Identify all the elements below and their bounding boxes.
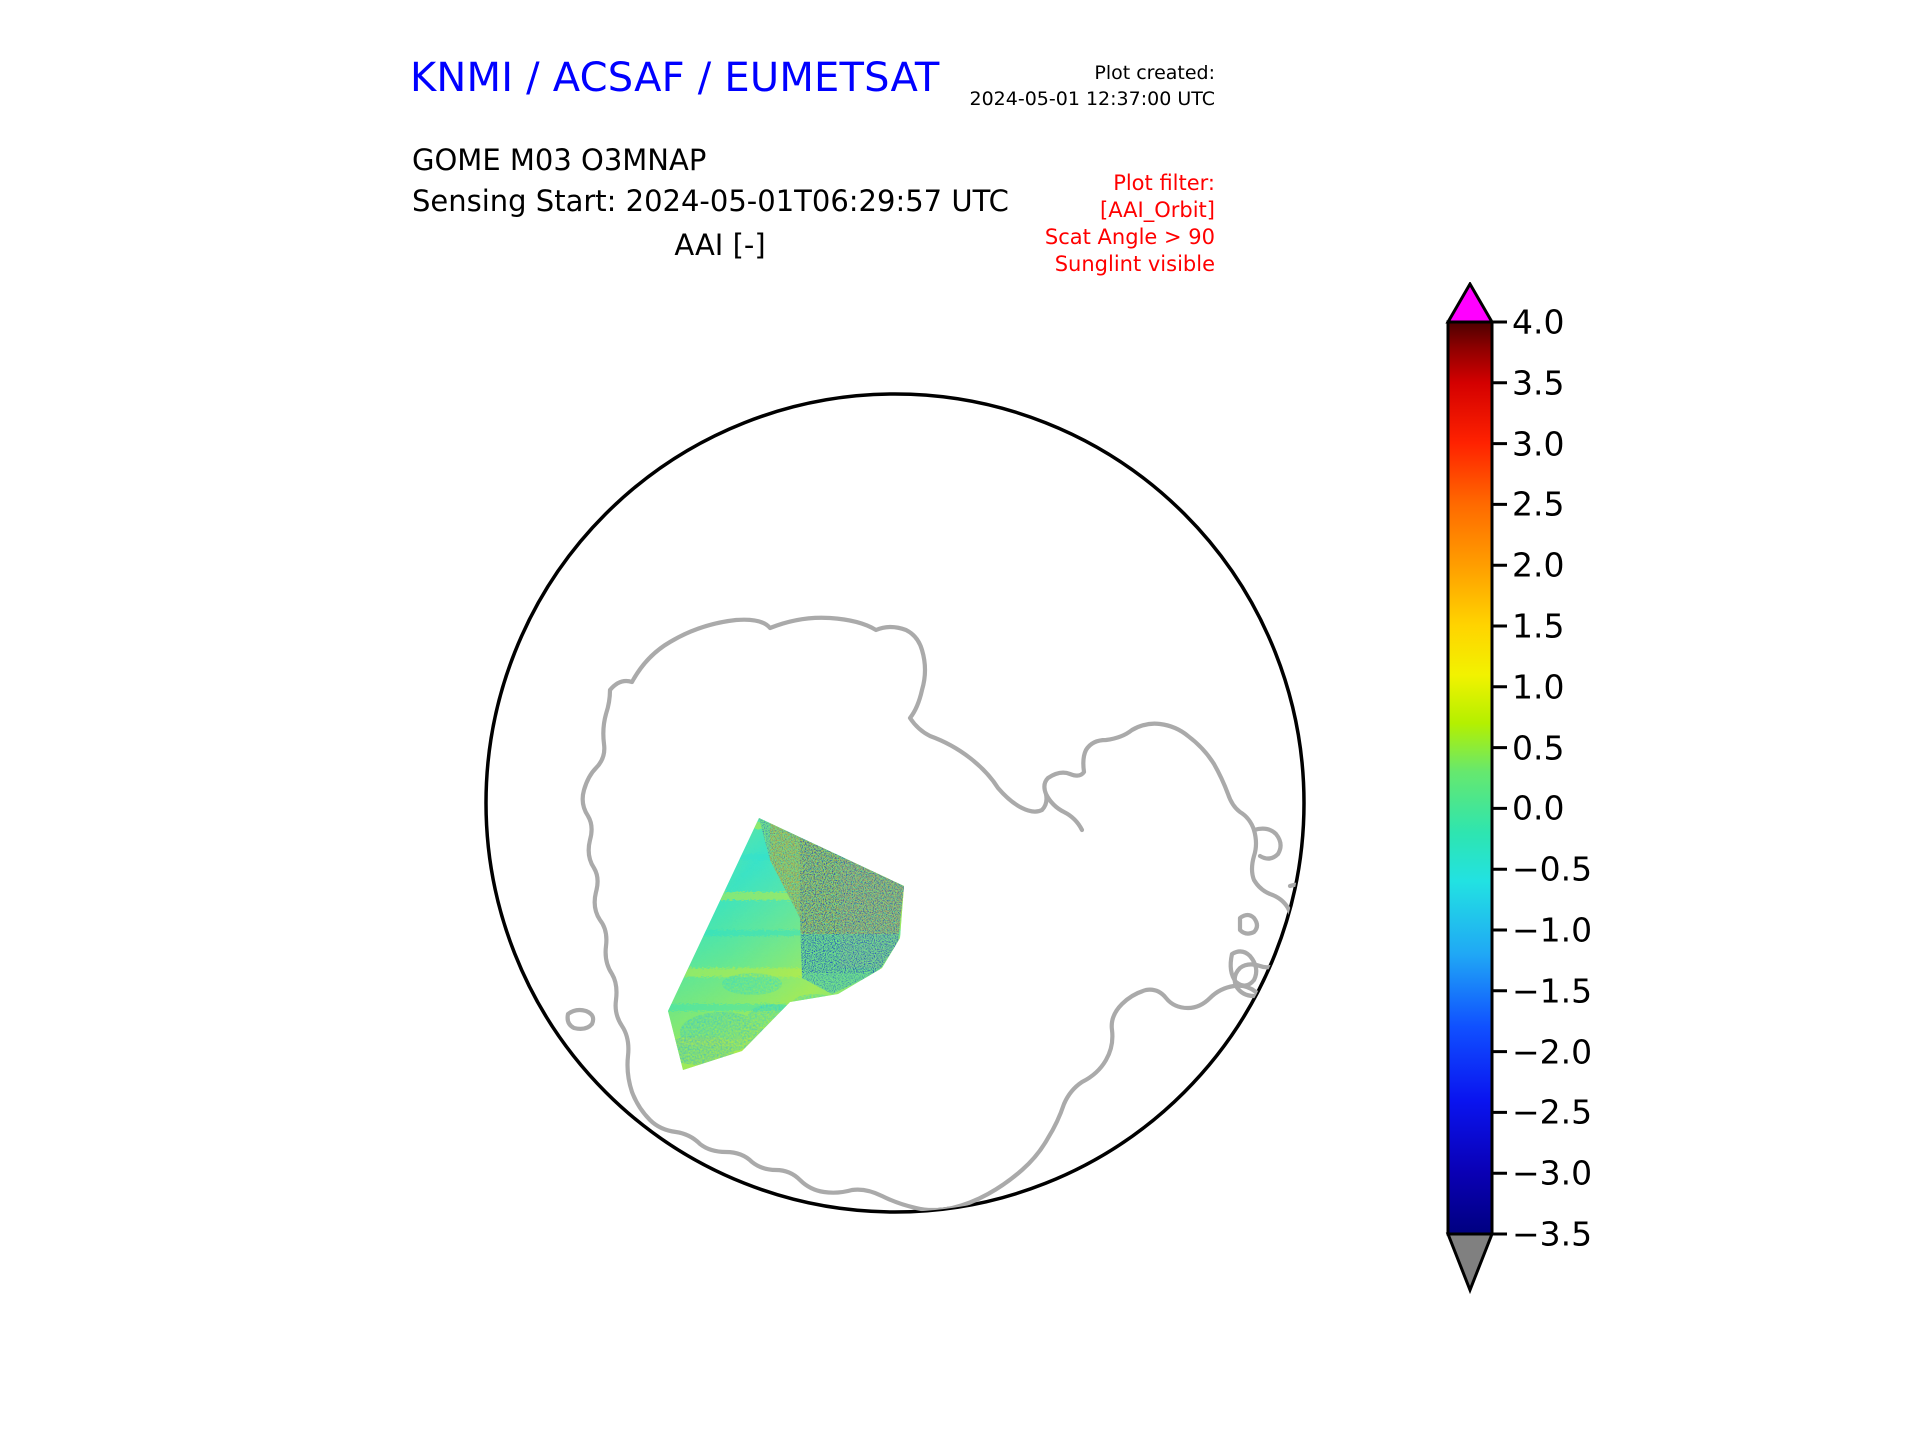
plot-filter-sunglint: Sunglint visible (1045, 251, 1215, 278)
colorbar-tick-label: 4.0 (1512, 306, 1564, 339)
colorbar-ticks (1492, 322, 1507, 1234)
colorbar-gradient (1448, 322, 1492, 1234)
colorbar-tick-label: −1.5 (1512, 974, 1592, 1007)
colorbar-under-arrow (1448, 1234, 1492, 1290)
colorbar-over-arrow (1448, 284, 1492, 322)
organisation-title: KNMI / ACSAF / EUMETSAT (410, 55, 940, 101)
plot-filter-variable: [AAI_Orbit] (1045, 197, 1215, 224)
colorbar-tick-label: −2.5 (1512, 1096, 1592, 1129)
colorbar-tick-label: 0.5 (1512, 731, 1564, 764)
plot-created-label: Plot created: (970, 60, 1216, 86)
colorbar-tick-label: 1.0 (1512, 670, 1564, 703)
map-svg (370, 278, 1420, 1328)
colorbar-tick-label: 3.5 (1512, 366, 1564, 399)
colorbar-tick-labels: 4.0 3.5 3.0 2.5 2.0 1.5 1.0 0.5 0.0 −0.5… (1512, 282, 1692, 1302)
colorbar-tick-label: −1.0 (1512, 914, 1592, 947)
dataset-info-block: GOME M03 O3MNAP Sensing Start: 2024-05-0… (412, 140, 1009, 222)
colorbar-tick-label: −0.5 (1512, 853, 1592, 886)
colorbar-tick-label: −2.0 (1512, 1035, 1592, 1068)
plot-filter-scat-angle: Scat Angle > 90 (1045, 224, 1215, 251)
dataset-name: GOME M03 O3MNAP (412, 140, 1009, 181)
plot-filter-label: Plot filter: (1045, 170, 1215, 197)
map-panel (370, 278, 1420, 1328)
plot-filter-block: Plot filter: [AAI_Orbit] Scat Angle > 90… (1045, 170, 1215, 278)
sensing-start: Sensing Start: 2024-05-01T06:29:57 UTC (412, 181, 1009, 222)
colorbar-tick-label: −3.0 (1512, 1157, 1592, 1190)
plot-page: KNMI / ACSAF / EUMETSAT Plot created: 20… (0, 0, 1920, 1440)
colorbar-tick-label: 0.0 (1512, 792, 1564, 825)
colorbar-tick-label: 3.0 (1512, 427, 1564, 460)
south-america-coastline (1235, 948, 1420, 1228)
colorbar-svg (1437, 282, 1507, 1302)
colorbar-tick-label: 1.5 (1512, 610, 1564, 643)
globe-boundary-circle (486, 394, 1304, 1212)
colorbar (1437, 282, 1507, 1302)
colorbar-tick-label: 2.5 (1512, 488, 1564, 521)
colorbar-tick-label: −3.5 (1512, 1218, 1592, 1251)
plot-created-block: Plot created: 2024-05-01 12:37:00 UTC (970, 60, 1216, 112)
colorbar-tick-label: 2.0 (1512, 549, 1564, 582)
variable-title: AAI [-] (0, 228, 1440, 262)
plot-created-value: 2024-05-01 12:37:00 UTC (970, 86, 1216, 112)
